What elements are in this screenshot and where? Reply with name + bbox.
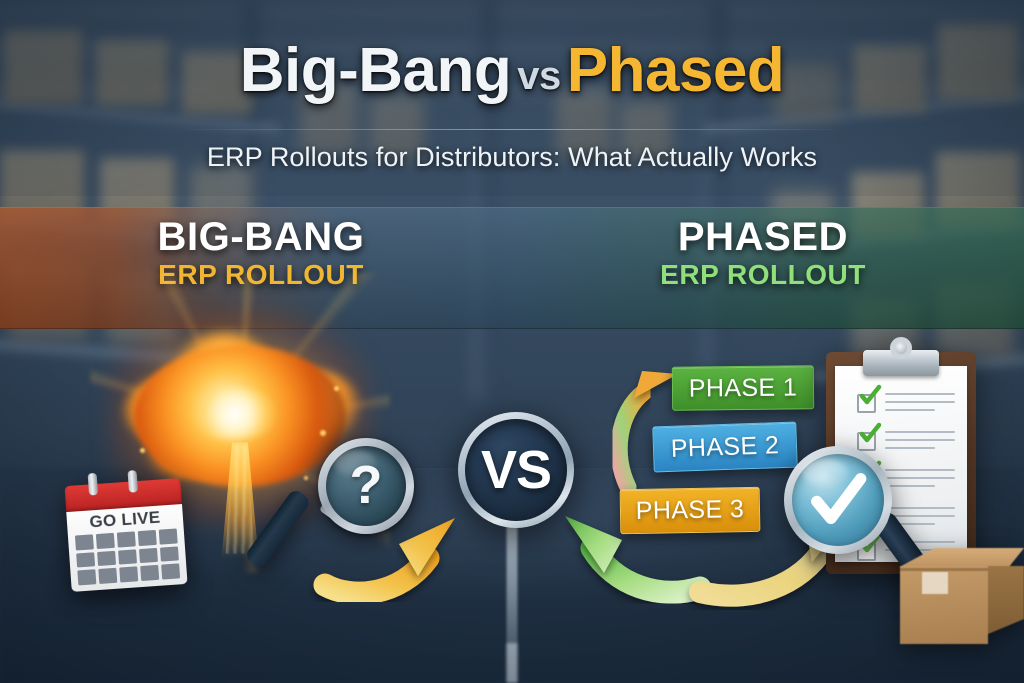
- go-live-calendar-icon: GO LIVE: [64, 478, 187, 592]
- calendar-day-cell: [119, 567, 138, 583]
- text-line: [885, 393, 955, 395]
- calendar-day-cell: [138, 530, 157, 546]
- calendar-day-cell: [77, 570, 96, 586]
- calendar-day-cell: [161, 564, 180, 580]
- calendar-day-cell: [139, 548, 158, 564]
- text-line: [885, 447, 935, 449]
- checklist-text-lines: [885, 393, 955, 417]
- explosion-spark: [320, 430, 326, 436]
- magnifier-glare: [802, 459, 848, 486]
- title-part-phased: Phased: [567, 36, 785, 105]
- check-magnifier-icon: [784, 446, 892, 554]
- calendar-day-cell: [118, 549, 137, 565]
- checklist-text-lines: [885, 431, 955, 455]
- check-icon: [858, 421, 882, 445]
- infographic-poster: Big-BangvsPhased ERP Rollouts for Distri…: [0, 0, 1024, 683]
- text-line: [885, 469, 955, 471]
- box-tape: [900, 568, 988, 571]
- calendar-day-cell: [75, 534, 94, 550]
- calendar-day-grid: [75, 528, 180, 585]
- versus-badge: VS: [458, 412, 574, 528]
- calendar-ring: [88, 473, 99, 496]
- calendar-day-cell: [159, 528, 178, 544]
- magnifier-glare: [334, 450, 376, 476]
- text-line: [885, 431, 955, 433]
- explosion-spark: [334, 386, 339, 391]
- calendar-day-cell: [96, 533, 115, 549]
- phased-heading: PHASED: [528, 216, 998, 259]
- versus-disc: VS: [465, 419, 567, 521]
- question-magnifier-icon: ?: [318, 438, 414, 534]
- text-line: [885, 477, 955, 479]
- road-center-stripe-lower: [507, 643, 518, 683]
- text-line: [885, 507, 955, 509]
- title-part-big-bang: Big-Bang: [240, 36, 512, 105]
- check-icon: [858, 383, 882, 407]
- phased-subheading: ERP ROLLOUT: [528, 259, 998, 290]
- cardboard-box: [900, 548, 1024, 644]
- box-shipping-label: [922, 572, 948, 594]
- calendar-ring: [128, 470, 139, 493]
- title-divider-rule: [178, 129, 846, 130]
- text-line: [885, 485, 935, 487]
- page-subtitle: ERP Rollouts for Distributors: What Actu…: [0, 142, 1024, 173]
- phased-column-header: PHASED ERP ROLLOUT: [528, 216, 998, 291]
- calendar-day-cell: [160, 546, 179, 562]
- calendar-day-cell: [117, 531, 136, 547]
- versus-label: VS: [481, 439, 551, 501]
- explosion-core: [192, 388, 278, 440]
- explosion-spark: [304, 476, 308, 480]
- phase-box-2[interactable]: PHASE 2: [652, 422, 798, 473]
- text-line: [885, 439, 955, 441]
- calendar-day-cell: [140, 565, 159, 581]
- phase-box-1[interactable]: PHASE 1: [672, 365, 814, 410]
- page-title: Big-BangvsPhased: [0, 40, 1024, 102]
- title-connector-vs: vs: [511, 54, 567, 98]
- calendar-day-cell: [76, 552, 95, 568]
- explosion-spark: [140, 448, 145, 453]
- checklist-row: [857, 392, 955, 422]
- calendar-day-cell: [98, 568, 117, 584]
- text-line: [885, 409, 935, 411]
- text-line: [885, 401, 955, 403]
- box-side-face: [988, 566, 1024, 634]
- big-bang-heading: BIG-BANG: [26, 216, 496, 259]
- calendar-day-cell: [97, 550, 116, 566]
- checklist-text-lines: [885, 469, 955, 493]
- phase-box-3[interactable]: PHASE 3: [620, 487, 761, 534]
- clipboard-clip-ring: [890, 337, 912, 359]
